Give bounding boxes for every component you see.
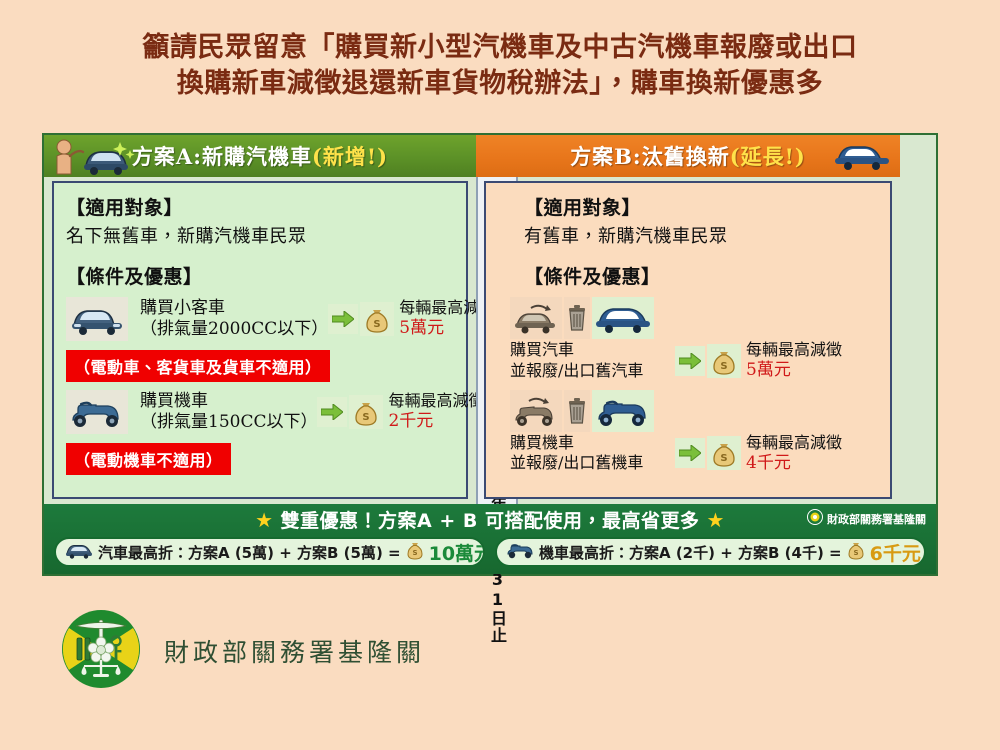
- plan-b-scooter-benefit-label: 每輛最高減徵: [746, 433, 842, 452]
- plan-b-scooter-line2: 並報廢/出口舊機車: [510, 453, 643, 472]
- plan-a-terms-label: 【條件及優惠】: [66, 262, 454, 289]
- pill-scooter-text: 機車最高折：方案A (2千) + 方案B (4千) =: [539, 542, 842, 563]
- car-icon: [65, 541, 93, 563]
- money-bag-icon: S: [360, 302, 394, 336]
- old-car-to-bin-icon: [510, 293, 878, 339]
- new-scooter-icon: [592, 390, 654, 432]
- new-car-icon: [592, 297, 654, 339]
- plan-a-car-benefit: S 每輛最高減徵 5萬元: [328, 298, 495, 339]
- page-title: 籲請民眾留意「購買新小型汽機車及中古汽機車報廢或出口 換購新車減徵退還新車貨物稅…: [0, 30, 1000, 101]
- pill-car-total: 10萬元: [429, 539, 485, 566]
- plan-b-scooter-line1: 購買機車: [510, 433, 574, 452]
- old-scooter-to-bin-icon: [510, 386, 878, 432]
- customs-emblem-icon: [807, 509, 823, 529]
- arrow-right-icon: [675, 438, 705, 468]
- arrow-right-icon: [328, 304, 358, 334]
- pill-scooter-max-discount: 機車最高折：方案A (2千) + 方案B (4千) = S 6千元: [495, 537, 926, 567]
- old-scooter-icon: [510, 390, 562, 432]
- svg-text:S: S: [374, 319, 381, 330]
- arrow-right-icon: [317, 397, 347, 427]
- plan-b-car-benefit-label: 每輛最高減徵: [746, 340, 842, 359]
- comparison-card: 方案A:新購汽機車(新增!) 【適用對象】 名下無舊車，新購汽機車民眾 【條件及…: [42, 133, 938, 576]
- footer: 財政部關務署基隆關: [60, 608, 425, 694]
- person-with-new-car-icon: [50, 136, 136, 176]
- blue-car-icon: [834, 141, 890, 171]
- plan-a-scooter-line2: （排氣量150CC以下）: [140, 412, 317, 432]
- plan-a-car-text: 購買小客車 （排氣量2000CC以下）: [140, 298, 328, 341]
- plan-a-header: 方案A:新購汽機車(新增!): [44, 135, 476, 177]
- plan-a-title-main: 方案A:新購汽機車: [132, 144, 312, 169]
- car-icon: [66, 297, 128, 341]
- money-bag-icon: S: [707, 344, 741, 378]
- plan-a-car-warning: （電動車、客貨車及貨車不適用）: [66, 350, 330, 382]
- plan-b-car-line2: 並報廢/出口舊汽車: [510, 361, 643, 380]
- plan-a-body: 【適用對象】 名下無舊車，新購汽機車民眾 【條件及優惠】: [52, 181, 468, 499]
- plan-b-car-benefit-amount: 5萬元: [746, 360, 791, 380]
- plan-b-title-main: 方案B:汰舊換新: [570, 144, 730, 169]
- plan-a-panel: 方案A:新購汽機車(新增!) 【適用對象】 名下無舊車，新購汽機車民眾 【條件及…: [44, 135, 476, 505]
- plan-a-car-benefit-amount: 5萬元: [399, 318, 444, 338]
- star-icon: ★: [706, 508, 724, 532]
- savings-pills: 汽車最高折：方案A (5萬) + 方案B (5萬) = S 10萬元: [44, 534, 936, 570]
- plan-b-target-label: 【適用對象】: [498, 193, 878, 220]
- banner-brand-text: 財政部關務署基隆關: [827, 511, 926, 527]
- svg-text:S: S: [720, 453, 727, 464]
- trash-bin-icon: [564, 297, 590, 339]
- combo-banner-text: 雙重優惠！方案A + B 可搭配使用，最高省更多: [281, 510, 700, 532]
- plan-a-target-label: 【適用對象】: [66, 193, 454, 220]
- plan-b-scooter-benefit-amount: 4千元: [746, 453, 791, 473]
- pill-scooter-total: 6千元: [870, 539, 921, 566]
- plan-b-scooter-text: 購買機車 並報廢/出口舊機車: [510, 433, 675, 475]
- scooter-icon: [66, 390, 128, 434]
- footer-org-name: 財政部關務署基隆關: [164, 633, 425, 669]
- plan-b-row-car: 購買汽車 並報廢/出口舊汽車: [498, 293, 878, 382]
- plan-a-scooter-benefit-text: 每輛最高減徵 2千元: [388, 391, 484, 432]
- svg-text:S: S: [853, 549, 858, 557]
- pill-car-max-discount: 汽車最高折：方案A (5萬) + 方案B (5萬) = S 10萬元: [54, 537, 485, 567]
- page-title-line-2: 換購新車減徵退還新車貨物稅辦法」，購車換新優惠多: [0, 66, 1000, 102]
- money-bag-icon: S: [406, 540, 424, 564]
- combo-banner-headline: ★雙重優惠！方案A + B 可搭配使用，最高省更多★: [248, 506, 732, 533]
- combo-banner-headline-row: ★雙重優惠！方案A + B 可搭配使用，最高省更多★ 財政部關務署基隆關: [44, 504, 936, 534]
- plan-b-target-text: 有舊車，新購汽機車民眾: [498, 222, 878, 248]
- svg-text:S: S: [412, 549, 417, 557]
- svg-text:S: S: [363, 412, 370, 423]
- plan-a-scooter-text: 購買機車 （排氣量150CC以下）: [140, 391, 317, 434]
- plan-b-scooter-benefit: S 每輛最高減徵 4千元: [675, 433, 842, 474]
- plan-b-car-line1: 購買汽車: [510, 340, 574, 359]
- plan-a-scooter-benefit-label: 每輛最高減徵: [388, 391, 484, 410]
- money-bag-icon: S: [349, 395, 383, 429]
- money-bag-icon: S: [707, 436, 741, 470]
- plan-a-row-car: 購買小客車 （排氣量2000CC以下）: [66, 297, 454, 341]
- plan-b-scooter-benefit-text: 每輛最高減徵 4千元: [746, 433, 842, 474]
- trash-bin-icon: [564, 390, 590, 432]
- plan-b-car-text: 購買汽車 並報廢/出口舊汽車: [510, 340, 675, 382]
- scooter-icon: [506, 541, 534, 563]
- page-title-line-1: 籲請民眾留意「購買新小型汽機車及中古汽機車報廢或出口: [0, 30, 1000, 66]
- star-icon: ★: [255, 508, 273, 532]
- plan-b-header: 方案B:汰舊換新(延長!): [476, 135, 900, 177]
- plan-a-car-line1: 購買小客車: [140, 298, 225, 318]
- customs-emblem-icon: [60, 608, 142, 694]
- money-bag-icon: S: [847, 540, 865, 564]
- plans-container: 方案A:新購汽機車(新增!) 【適用對象】 名下無舊車，新購汽機車民眾 【條件及…: [44, 135, 940, 505]
- plan-b-row-scooter: 購買機車 並報廢/出口舊機車: [498, 386, 878, 475]
- plan-a-scooter-benefit-amount: 2千元: [388, 411, 433, 431]
- pill-car-text: 汽車最高折：方案A (5萬) + 方案B (5萬) =: [98, 542, 401, 563]
- plan-b-title: 方案B:汰舊換新(延長!): [570, 141, 806, 171]
- plan-a-title-badge: (新增!): [312, 144, 388, 169]
- plan-a-scooter-warning: （電動機車不適用）: [66, 443, 231, 475]
- plan-a-car-line2: （排氣量2000CC以下）: [140, 319, 328, 339]
- plan-b-scooter-main: 購買機車 並報廢/出口舊機車: [510, 433, 878, 475]
- plan-b-terms-label: 【條件及優惠】: [498, 262, 878, 289]
- arrow-right-icon: [675, 346, 705, 376]
- plan-b-car-benefit: S 每輛最高減徵 5萬元: [675, 340, 842, 381]
- banner-brand: 財政部關務署基隆關: [807, 509, 926, 529]
- plan-b-panel: 方案B:汰舊換新(延長!) 【適用對象】 有舊車，新購汽機車民眾 【條件及優惠】: [476, 135, 900, 505]
- plan-b-car-main: 購買汽車 並報廢/出口舊汽車: [510, 340, 878, 382]
- plan-b-car-benefit-text: 每輛最高減徵 5萬元: [746, 340, 842, 381]
- plan-b-title-badge: (延長!): [730, 144, 806, 169]
- plan-b-body: 【適用對象】 有舊車，新購汽機車民眾 【條件及優惠】: [484, 181, 892, 499]
- plan-a-title: 方案A:新購汽機車(新增!): [132, 141, 388, 171]
- svg-text:S: S: [720, 361, 727, 372]
- plan-a-target-text: 名下無舊車，新購汽機車民眾: [66, 222, 454, 248]
- plan-a-scooter-benefit: S 每輛最高減徵 2千元: [317, 391, 484, 432]
- plan-a-scooter-line1: 購買機車: [140, 391, 208, 411]
- old-car-icon: [510, 297, 562, 339]
- plan-a-row-scooter: 購買機車 （排氣量150CC以下）: [66, 390, 454, 434]
- combo-banner: ★雙重優惠！方案A + B 可搭配使用，最高省更多★ 財政部關務署基隆關: [44, 504, 936, 574]
